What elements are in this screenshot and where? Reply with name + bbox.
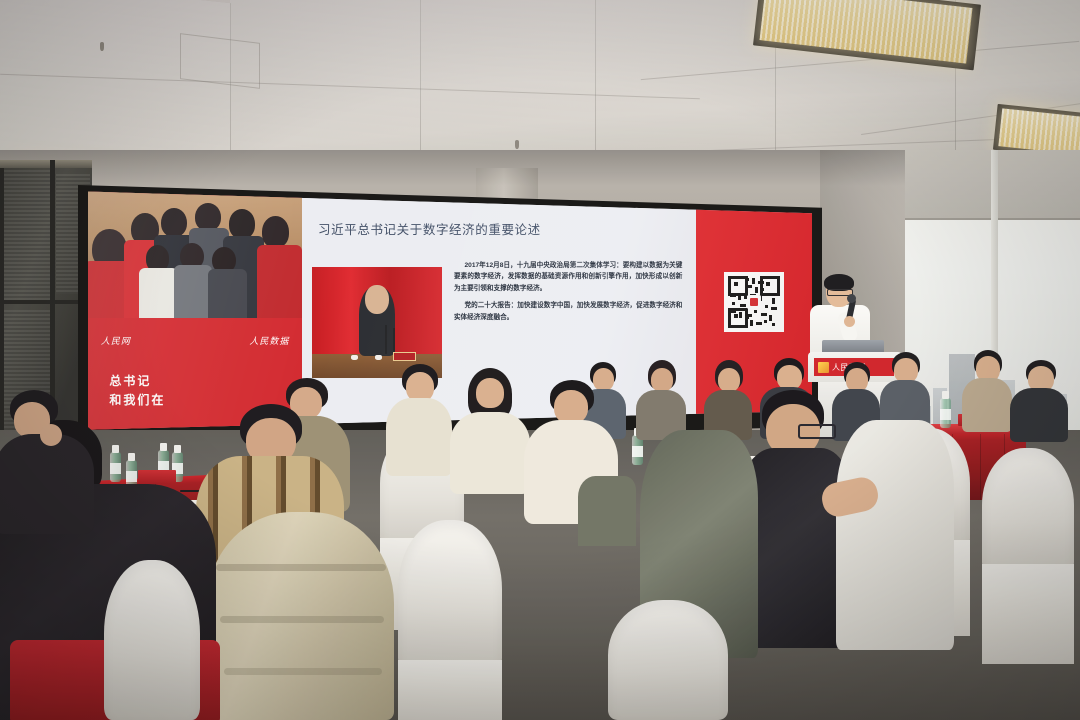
chair [982, 448, 1074, 572]
photo-microphone-icon [393, 328, 395, 352]
chair [608, 600, 728, 720]
audience-member [636, 360, 688, 438]
chair-skirt [398, 660, 502, 720]
chair [398, 520, 502, 670]
group-photo [88, 184, 302, 318]
chair-skirt [982, 564, 1074, 664]
photo-microphone-icon [385, 325, 387, 354]
window-blind[interactable] [905, 150, 991, 220]
glasses-icon [798, 424, 836, 439]
audience-member [960, 350, 1014, 430]
audience-member [450, 368, 532, 488]
audience-member [386, 364, 454, 474]
window-blind[interactable] [997, 150, 1080, 220]
photo-teacup [375, 355, 382, 360]
renminwang-logo: 人民网 [101, 334, 131, 347]
logo-row: 人民网 人民数据 [101, 334, 290, 347]
audience-member [1010, 360, 1070, 440]
photo-head [365, 285, 388, 314]
renmin-data-logo: 人民数据 [249, 334, 289, 347]
slide-paragraph-1: 2017年12月8日，十九届中央政治局第二次集体学习：要构建以数据为关键要素的数… [454, 260, 682, 295]
audience-member [836, 420, 956, 720]
slide-paragraph-2: 党的二十大报告：加快建设数字中国，加快发展数字经济，促进数字经济和实体经济深度融… [454, 300, 682, 323]
leader-photo [312, 267, 442, 378]
slide-body-text: 2017年12月8日，十九届中央政治局第二次集体学习：要构建以数据为关键要素的数… [454, 260, 682, 330]
hand [40, 424, 62, 446]
sprinkler-icon [100, 42, 104, 51]
sprinkler-icon [515, 140, 519, 149]
renmin-data-mark-icon [818, 362, 829, 373]
slide-title: 习近平总书记关于数字经济的重要论述 [318, 219, 541, 238]
chair [104, 560, 200, 720]
photo-nameplate [393, 352, 416, 362]
conference-room-scene: 人民网 人民数据 总书记 和我们在 习近平总书记关于数字经济的重要论述 [0, 0, 1080, 720]
audience-member [524, 380, 620, 520]
qr-code-icon[interactable] [724, 272, 784, 332]
audience-member [0, 390, 96, 530]
qr-center-logo [747, 295, 761, 309]
audience-member [206, 512, 396, 720]
